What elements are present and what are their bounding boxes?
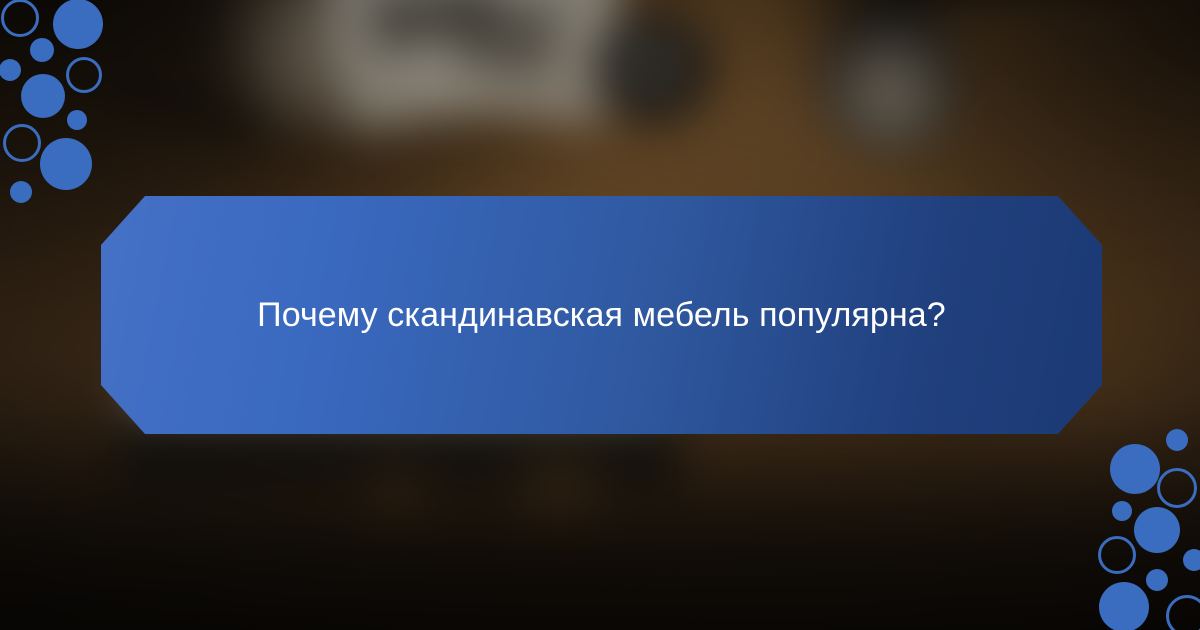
- headline-banner: Почему скандинавская мебель популярна?: [101, 196, 1102, 434]
- banner-title: Почему скандинавская мебель популярна?: [197, 294, 1006, 337]
- banner-canvas: Почему скандинавская мебель популярна?: [0, 0, 1200, 630]
